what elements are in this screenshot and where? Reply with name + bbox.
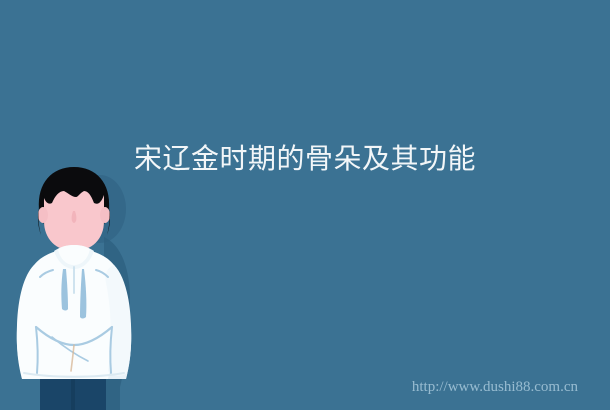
hoodie	[17, 245, 132, 379]
slide-canvas: 宋辽金时期的骨朵及其功能 http://www.dushi88.com.cn	[0, 0, 610, 410]
source-watermark: http://www.dushi88.com.cn	[412, 378, 578, 396]
page-title: 宋辽金时期的骨朵及其功能	[0, 139, 610, 179]
person-illustration	[8, 165, 144, 410]
